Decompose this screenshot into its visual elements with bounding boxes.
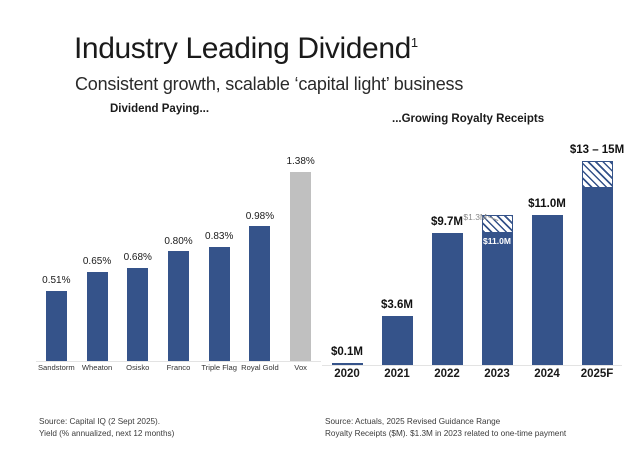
bar-rect <box>127 268 148 361</box>
category-label: Osisko <box>117 364 158 372</box>
category-label: Sandstorm <box>36 364 77 372</box>
bar-wheaton <box>87 272 108 361</box>
bar-royal-gold <box>249 226 270 360</box>
bar-value-label: 1.38% <box>285 157 317 167</box>
category-label: Wheaton <box>77 364 118 372</box>
left-chart-source-note: Source: Capital IQ (2 Sept 2025). Yield … <box>39 416 174 440</box>
bar-value-label: 0.83% <box>203 232 235 242</box>
bar-rect <box>209 247 230 361</box>
bar-2023: $11.0M <box>482 215 513 365</box>
bar-value-label: $13 – 15M <box>563 145 631 157</box>
bar-2024 <box>532 215 563 365</box>
category-label: Vox <box>280 364 321 372</box>
page-subtitle: Consistent growth, scalable ‘capital lig… <box>75 74 463 95</box>
right-chart-source-note: Source: Actuals, 2025 Revised Guidance R… <box>325 416 566 440</box>
bar-rect <box>290 172 311 361</box>
category-label: 2020 <box>322 369 372 381</box>
bar-rect <box>382 316 413 365</box>
right-chart-plot-area: $0.1M$3.6M$9.7M$11.0M$1.3M$11.0M$13 – 15… <box>322 128 622 366</box>
category-label: 2023 <box>472 369 522 381</box>
dividend-yield-bar-chart: 0.51%0.65%0.68%0.80%0.83%0.98%1.38% Sand… <box>36 128 321 380</box>
bar-value-label: 0.51% <box>40 276 72 286</box>
left-chart-plot-area: 0.51%0.65%0.68%0.80%0.83%0.98%1.38% <box>36 128 321 362</box>
bar-sandstorm <box>46 291 67 361</box>
bar-franco <box>168 251 189 360</box>
bar-rect <box>87 272 108 361</box>
bar-rect <box>432 233 463 365</box>
bar-vox <box>290 172 311 361</box>
bar-rect <box>168 251 189 360</box>
right-chart-axis-line <box>322 365 622 367</box>
page-title: Industry Leading Dividend1 <box>74 32 418 66</box>
bar-inline-value-label: $11.0M <box>482 236 513 246</box>
category-label: 2025F <box>572 369 622 381</box>
bar-2021 <box>382 316 413 365</box>
category-label: 2022 <box>422 369 472 381</box>
page-title-text: Industry Leading Dividend <box>74 32 411 65</box>
left-chart-caption: Dividend Paying... <box>110 103 209 115</box>
one-time-payment-callout-label: $1.3M <box>453 213 487 222</box>
royalty-receipts-bar-chart: $0.1M$3.6M$9.7M$11.0M$1.3M$11.0M$13 – 15… <box>322 128 622 386</box>
bar-2022 <box>432 233 463 365</box>
bar-value-label: 0.80% <box>163 237 195 247</box>
bar-rect-hatched-segment <box>582 161 613 188</box>
bar-value-label: $3.6M <box>363 300 431 312</box>
bar-rect: $11.0M <box>482 233 513 365</box>
page-title-footnote-marker: 1 <box>411 35 418 50</box>
left-chart-axis-line <box>36 361 321 363</box>
category-label: 2021 <box>372 369 422 381</box>
bar-2025f <box>582 161 613 365</box>
bar-value-label: 0.65% <box>81 257 113 267</box>
bar-rect <box>46 291 67 361</box>
bar-rect <box>332 363 363 365</box>
bar-rect <box>249 226 270 360</box>
bar-value-label: $0.1M <box>313 347 381 359</box>
bar-osisko <box>127 268 148 361</box>
bar-rect <box>582 188 613 365</box>
category-label: Royal Gold <box>240 364 281 372</box>
bar-value-label: 0.68% <box>122 253 154 263</box>
bar-2020 <box>332 363 363 365</box>
category-label: Triple Flag <box>199 364 240 372</box>
bar-value-label: 0.98% <box>244 212 276 222</box>
right-chart-caption: ...Growing Royalty Receipts <box>392 113 544 125</box>
bar-value-label: $11.0M <box>513 199 581 211</box>
bar-triple-flag <box>209 247 230 361</box>
bar-rect <box>532 215 563 365</box>
category-label: 2024 <box>522 369 572 381</box>
category-label: Franco <box>158 364 199 372</box>
